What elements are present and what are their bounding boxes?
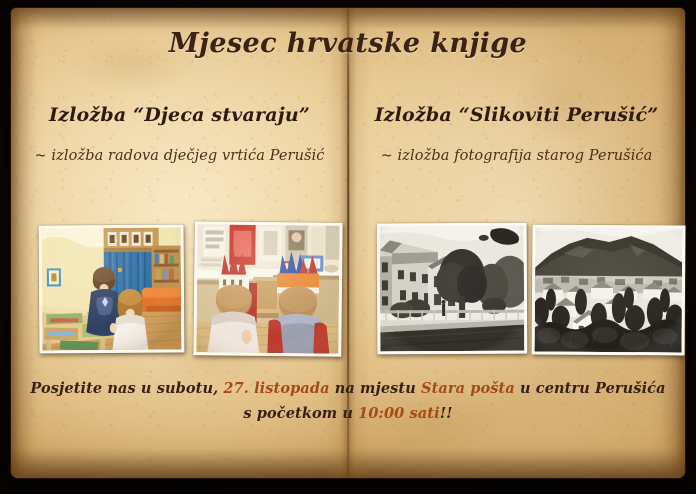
event-line1-part2: na mjestu [330,380,421,397]
exhibit-heading-left: Izložba “Djeca stvaraju” [11,104,348,126]
event-place: Stara pošta [421,380,515,397]
event-line1-part1: Posjetite nas u subotu, [30,380,223,397]
photo-old-street-building [377,223,528,355]
photo-old-street-building-image [380,226,525,352]
event-line2-part1: s početkom u [243,405,358,422]
exhibit-column-left: Izložba “Djeca stvaraju” ~ izložba radov… [11,104,348,164]
event-date: 27. listopada [223,380,329,397]
photo-children-paper-crowns-image [196,224,339,353]
event-details-line-1: Posjetite nas u subotu, 27. listopada na… [11,376,685,401]
photo-village-panorama [532,224,686,355]
exhibit-columns: Izložba “Djeca stvaraju” ~ izložba radov… [11,104,685,164]
event-details: Posjetite nas u subotu, 27. listopada na… [11,376,685,426]
event-line2-part2: !! [440,405,453,422]
exhibit-subheading-left: ~ izložba radova dječjeg vrtića Perušić [11,148,348,164]
photo-children-paper-crowns [193,221,342,357]
poster-image: Mjesec hrvatske knjige Izložba “Djeca st… [0,0,696,494]
open-book: Mjesec hrvatske knjige Izložba “Djeca st… [11,8,685,478]
exhibit-heading-right: Izložba “Slikoviti Perušić” [348,104,685,126]
photo-village-panorama-image [535,227,683,352]
photo-kindergarten-table [39,224,185,353]
event-time: 10:00 sati [358,405,440,422]
poster-content: Mjesec hrvatske knjige Izložba “Djeca st… [11,8,685,478]
exhibit-column-right: Izložba “Slikoviti Perušić” ~ izložba fo… [348,104,685,164]
poster-title: Mjesec hrvatske knjige [11,28,685,59]
event-line1-part3: u centru Perušića [515,380,666,397]
exhibit-subheading-right: ~ izložba fotografija starog Perušića [348,148,685,164]
event-details-line-2: s početkom u 10:00 sati!! [11,401,685,426]
photo-strip [11,220,685,365]
photo-kindergarten-table-image [42,228,182,351]
